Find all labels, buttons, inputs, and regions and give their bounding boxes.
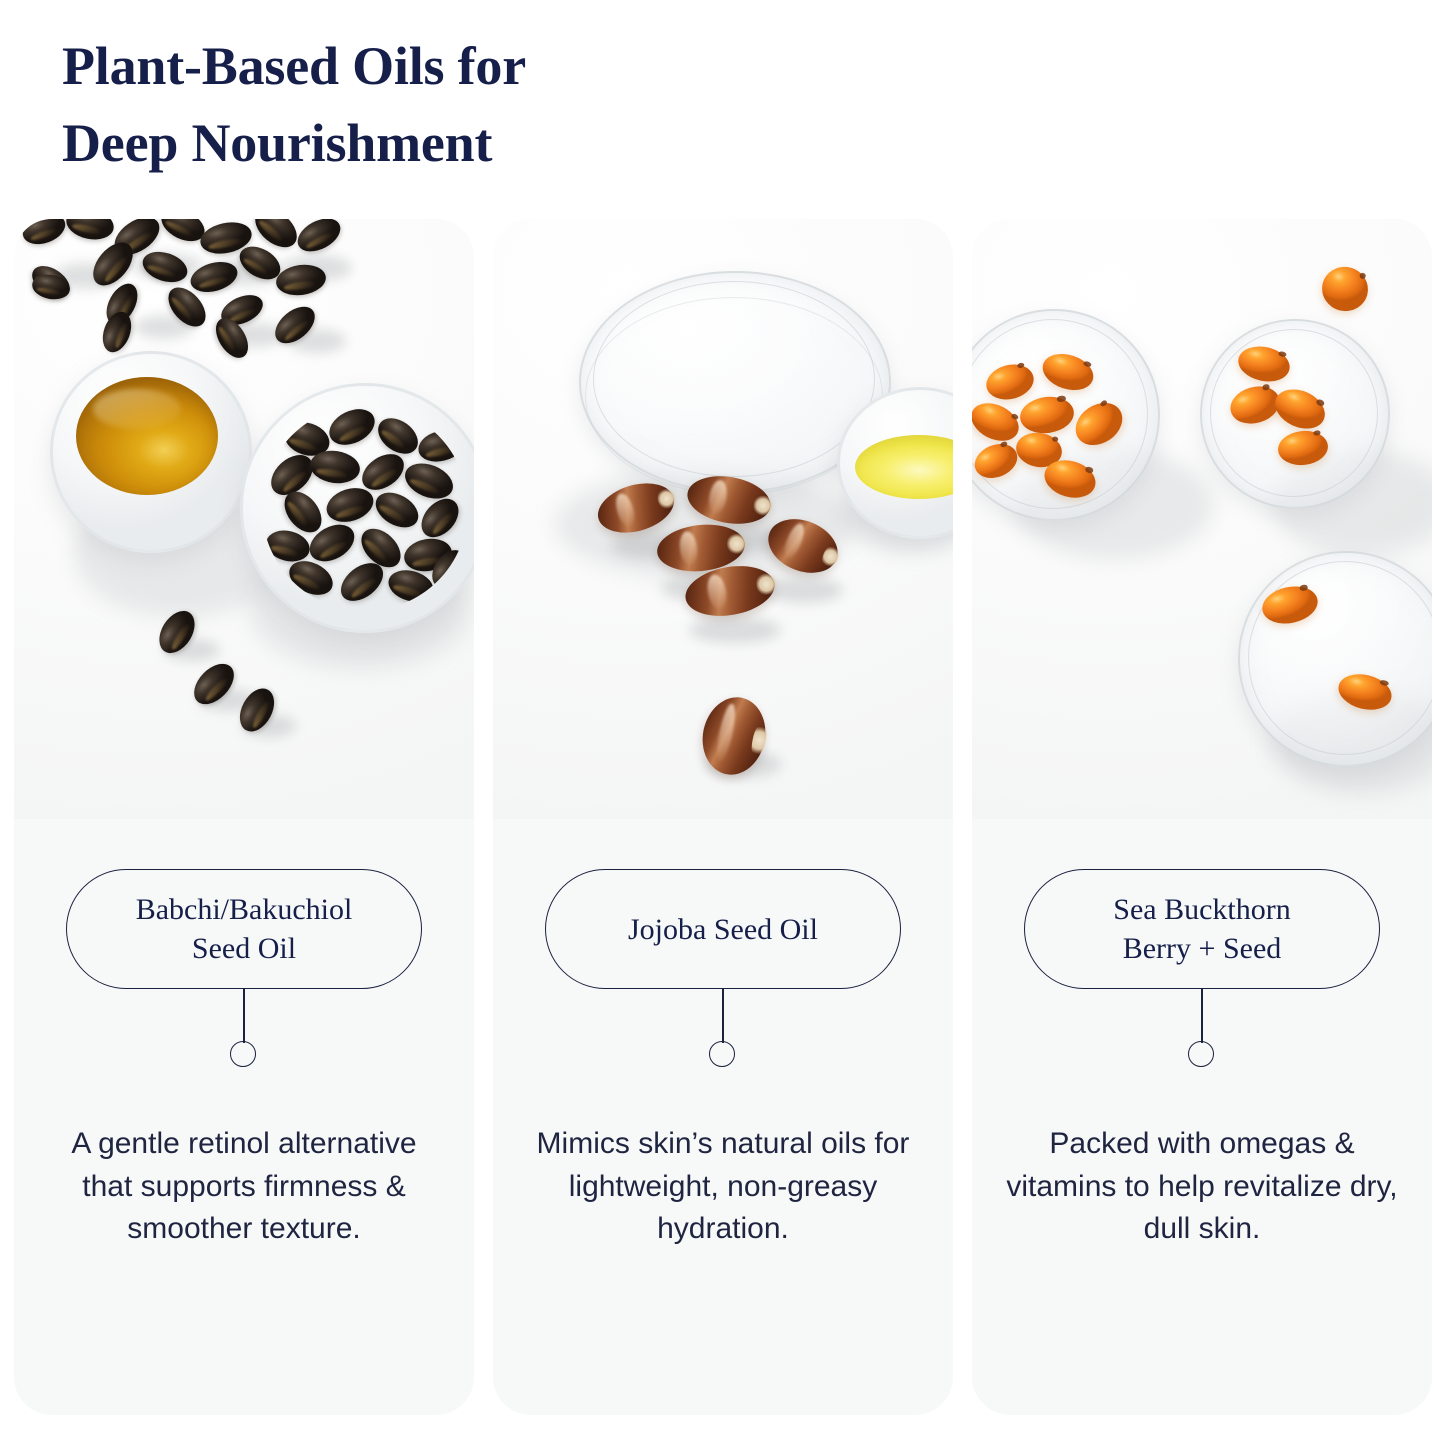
photo-panel-babchi: Babchi/Bakuchiol Seed Oil A gentle retin… xyxy=(14,219,474,1415)
ingredient-column-jojoba: Jojoba Seed Oil Mimics skin’s natural oi… xyxy=(493,219,953,1415)
ingredient-description-babchi: A gentle retinol alternative that suppor… xyxy=(44,1123,444,1251)
ingredient-pill-label: Jojoba Seed Oil xyxy=(628,910,818,949)
ingredient-pill-babchi[interactable]: Babchi/Bakuchiol Seed Oil xyxy=(66,869,422,989)
product-photo-sea-buckthorn xyxy=(972,219,1432,819)
ingredient-description-sea-buckthorn: Packed with omegas & vitamins to help re… xyxy=(1002,1123,1402,1251)
ingredient-pill-label: Sea Buckthorn Berry + Seed xyxy=(1113,890,1290,968)
product-photo-jojoba xyxy=(493,219,953,819)
connector-knob-icon xyxy=(709,1041,735,1067)
ingredient-column-babchi: Babchi/Bakuchiol Seed Oil A gentle retin… xyxy=(14,219,474,1415)
ingredient-pill-sea-buckthorn[interactable]: Sea Buckthorn Berry + Seed xyxy=(1024,869,1380,989)
ingredient-columns: Babchi/Bakuchiol Seed Oil A gentle retin… xyxy=(0,219,1445,1419)
photo-panel-sea-buckthorn: Sea Buckthorn Berry + Seed Packed with o… xyxy=(972,219,1432,1415)
connector-knob-icon xyxy=(1188,1041,1214,1067)
ingredient-pill-label: Babchi/Bakuchiol Seed Oil xyxy=(136,890,353,968)
seed-pile xyxy=(262,405,468,611)
connector-line xyxy=(243,989,245,1043)
product-photo-babchi xyxy=(14,219,474,819)
page-title: Plant-Based Oils for Deep Nourishment xyxy=(62,28,822,181)
ingredient-column-sea-buckthorn: Sea Buckthorn Berry + Seed Packed with o… xyxy=(972,219,1432,1415)
connector-line xyxy=(722,989,724,1043)
photo-panel-jojoba: Jojoba Seed Oil Mimics skin’s natural oi… xyxy=(493,219,953,1415)
babchi-oil xyxy=(76,377,218,495)
ingredient-pill-jojoba[interactable]: Jojoba Seed Oil xyxy=(545,869,901,989)
ingredient-description-jojoba: Mimics skin’s natural oils for lightweig… xyxy=(523,1123,923,1251)
connector-knob-icon xyxy=(230,1041,256,1067)
connector-line xyxy=(1201,989,1203,1043)
